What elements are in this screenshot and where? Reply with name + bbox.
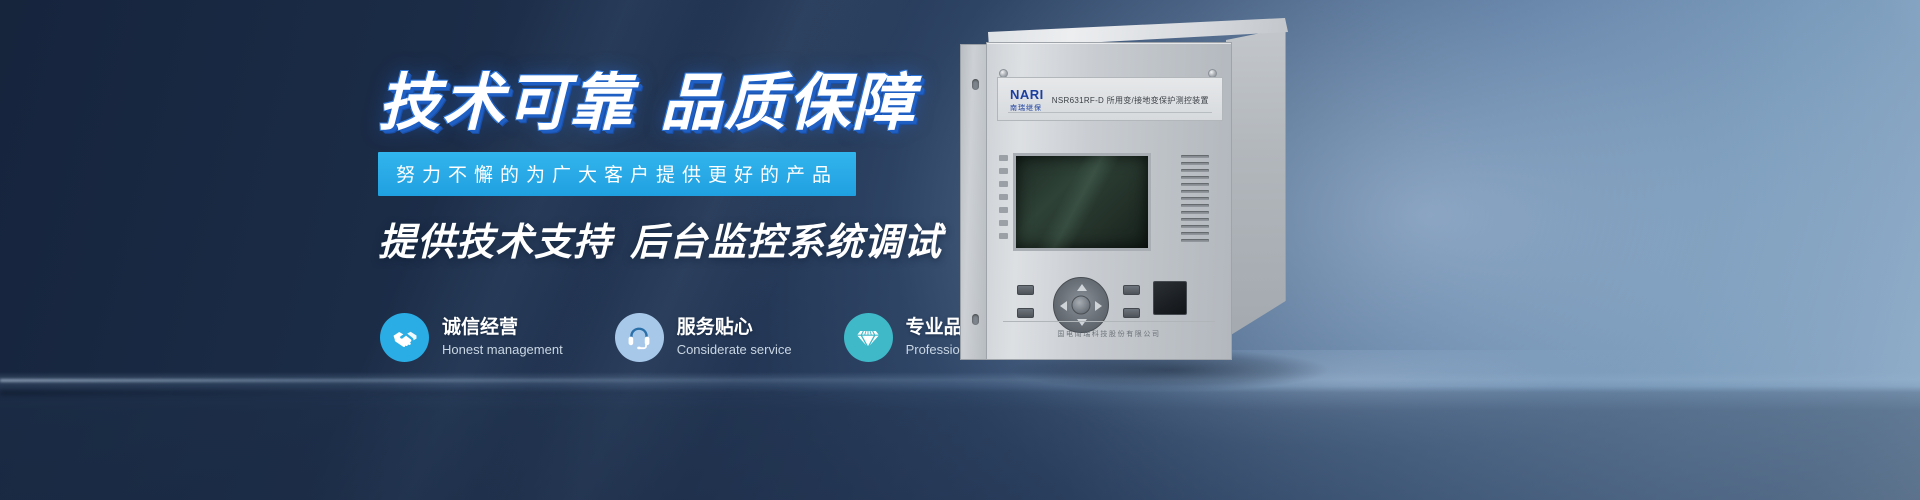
device-vent-slots bbox=[1181, 155, 1209, 247]
brand-name: NARI bbox=[1010, 88, 1044, 101]
horizon-highlight-line bbox=[0, 379, 1060, 382]
led-indicator bbox=[999, 233, 1008, 239]
feature-list: 诚信经营 Honest management 服务贴心 Cons bbox=[380, 313, 1018, 362]
vent-slot bbox=[1181, 218, 1209, 221]
headline-part-1: 技术可靠 bbox=[378, 69, 634, 138]
vent-slot bbox=[1181, 239, 1209, 242]
headset-icon-circle bbox=[615, 313, 664, 362]
function-button-4 bbox=[1123, 308, 1140, 318]
mounting-hole-top bbox=[972, 79, 979, 90]
vent-slot bbox=[1181, 162, 1209, 165]
arrow-up-icon bbox=[1077, 284, 1087, 291]
device-side-panel bbox=[1226, 28, 1286, 338]
vent-slot bbox=[1181, 197, 1209, 200]
device-communication-port bbox=[1153, 281, 1187, 315]
led-indicator bbox=[999, 207, 1008, 213]
diamond-icon-circle bbox=[844, 313, 893, 362]
hero-banner: 技术可靠品质保障 努力不懈的为广大客户提供更好的产品 提供技术支持后台监控系统调… bbox=[0, 0, 1920, 500]
function-button-1 bbox=[1017, 285, 1034, 295]
vent-slot bbox=[1181, 183, 1209, 186]
arrow-left-icon bbox=[1060, 301, 1067, 311]
vent-slot bbox=[1181, 232, 1209, 235]
feature-text-block: 诚信经营 Honest management bbox=[442, 316, 563, 360]
led-indicator bbox=[999, 155, 1008, 161]
mounting-hole-bottom bbox=[972, 314, 979, 325]
led-indicator bbox=[999, 220, 1008, 226]
vent-slot bbox=[1181, 190, 1209, 193]
arrow-right-icon bbox=[1095, 301, 1102, 311]
vent-slot bbox=[1181, 169, 1209, 172]
function-button-2 bbox=[1017, 308, 1034, 318]
device-mounting-ear bbox=[960, 44, 988, 360]
device-label-plate: NARI 南瑞继保 NSR631RF-D 所用变/接地变保护测控装置 bbox=[997, 77, 1223, 121]
device-front-panel: NARI 南瑞继保 NSR631RF-D 所用变/接地变保护测控装置 bbox=[986, 42, 1232, 360]
dpad-center-button bbox=[1072, 296, 1091, 315]
diamond-icon bbox=[854, 324, 882, 352]
nari-logo: NARI 南瑞继保 bbox=[1010, 88, 1044, 113]
handshake-icon-circle bbox=[380, 313, 429, 362]
subtitle-bar: 努力不懈的为广大客户提供更好的产品 bbox=[378, 152, 856, 196]
plate-divider bbox=[1008, 112, 1212, 113]
horizon-shadow-line bbox=[0, 390, 820, 396]
feature-item-considerate-service[interactable]: 服务贴心 Considerate service bbox=[615, 313, 792, 362]
vent-slot bbox=[1181, 155, 1209, 158]
led-indicator bbox=[999, 194, 1008, 200]
feature-title-en: Honest management bbox=[442, 341, 563, 359]
led-indicator bbox=[999, 181, 1008, 187]
device-brand-row: NARI 南瑞继保 NSR631RF-D 所用变/接地变保护测控装置 bbox=[1010, 88, 1209, 113]
secondary-headline-part-1: 提供技术支持 bbox=[378, 222, 612, 264]
product-device-image: NARI 南瑞继保 NSR631RF-D 所用变/接地变保护测控装置 bbox=[960, 18, 1520, 438]
vent-slot bbox=[1181, 225, 1209, 228]
feature-text-block: 服务贴心 Considerate service bbox=[677, 316, 792, 360]
device-footer-plate: 国电南瑞科技股份有限公司 bbox=[1003, 321, 1215, 345]
feature-title-en: Considerate service bbox=[677, 341, 792, 359]
led-indicator bbox=[999, 168, 1008, 174]
headline-part-2: 品质保障 bbox=[660, 69, 916, 138]
feature-title-cn: 诚信经营 bbox=[442, 316, 563, 340]
device-lcd-screen bbox=[1013, 153, 1151, 251]
screen-glare bbox=[1016, 156, 1148, 248]
vent-slot bbox=[1181, 211, 1209, 214]
function-button-3 bbox=[1123, 285, 1140, 295]
vent-slot bbox=[1181, 204, 1209, 207]
handshake-icon bbox=[391, 324, 419, 352]
feature-title-cn: 服务贴心 bbox=[677, 316, 792, 340]
led-indicator-column bbox=[999, 155, 1008, 246]
secondary-headline-part-2: 后台监控系统调试 bbox=[630, 222, 942, 264]
vent-slot bbox=[1181, 176, 1209, 179]
headset-icon bbox=[626, 325, 652, 351]
device-company-text: 国电南瑞科技股份有限公司 bbox=[1057, 329, 1160, 339]
subtitle-text: 努力不懈的为广大客户提供更好的产品 bbox=[396, 160, 838, 187]
device-model-label: NSR631RF-D 所用变/接地变保护测控装置 bbox=[1052, 95, 1209, 106]
feature-item-honest-management[interactable]: 诚信经营 Honest management bbox=[380, 313, 563, 362]
